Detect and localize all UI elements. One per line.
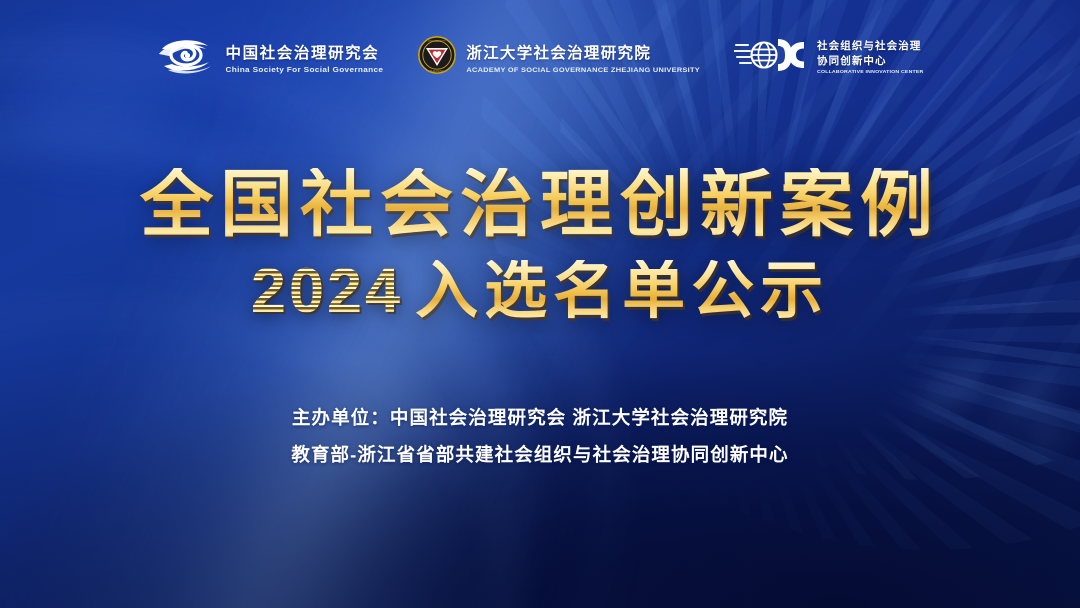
organizer-line-2: 教育部-浙江省省部共建社会组织与社会治理协同创新中心 — [0, 441, 1080, 467]
page-title: 全国社会治理创新案例 — [0, 168, 1080, 241]
title-block: 全国社会治理创新案例 2024 入选名单公示 — [0, 168, 1080, 323]
logo-bar: 中国社会治理研究会 China Society For Social Gover… — [0, 34, 1080, 81]
logo-china-society-text: 中国社会治理研究会 China Society For Social Gover… — [225, 41, 383, 74]
logo-collaborative-center: 社会组织与社会治理 协同创新中心 COLLABORATIVE INNOVATIO… — [734, 34, 924, 81]
logo-zhejiang-academy-text: 浙江大学社会治理研究院 ACADEMY OF SOCIAL GOVERNANCE… — [466, 41, 700, 74]
title-year: 2024 — [251, 260, 409, 323]
logo-collaborative-center-text: 社会组织与社会治理 协同创新中心 COLLABORATIVE INNOVATIO… — [817, 40, 924, 75]
logo-collaborative-center-cn-line2: 协同创新中心 — [817, 55, 924, 68]
logo-zhejiang-academy-cn: 浙江大学社会治理研究院 — [466, 41, 700, 63]
organizer-line-1: 主办单位：中国社会治理研究会 浙江大学社会治理研究院 — [0, 404, 1080, 430]
poster-canvas: 中国社会治理研究会 China Society For Social Gover… — [0, 0, 1080, 608]
logo-china-society-cn: 中国社会治理研究会 — [225, 41, 383, 63]
logo-collaborative-center-en: COLLABORATIVE INNOVATION CENTER — [817, 69, 924, 75]
logo-zhejiang-academy-en: ACADEMY OF SOCIAL GOVERNANCE ZHEJIANG UN… — [466, 65, 700, 73]
logo-collaborative-center-cn-line1: 社会组织与社会治理 — [817, 40, 924, 53]
zhejiang-university-crest-icon: UNIVERSITY ZHEJIANG — [417, 35, 457, 80]
poster-content: 中国社会治理研究会 China Society For Social Gover… — [0, 0, 1080, 608]
page-subtitle: 2024 入选名单公示 — [0, 260, 1080, 323]
svg-text:UNIVERSITY: UNIVERSITY — [428, 39, 446, 43]
logo-china-society: 中国社会治理研究会 China Society For Social Gover… — [156, 35, 383, 80]
organizer-block: 主办单位：中国社会治理研究会 浙江大学社会治理研究院 教育部-浙江省省部共建社会… — [0, 404, 1080, 467]
logo-china-society-en: China Society For Social Governance — [225, 65, 383, 73]
title-subtitle-text: 入选名单公示 — [415, 260, 829, 323]
logo-zhejiang-academy: UNIVERSITY ZHEJIANG 浙江大学社会治理研究院 ACADEMY … — [417, 35, 700, 80]
svg-text:ZHEJIANG: ZHEJIANG — [430, 69, 446, 73]
globe-cic-icon — [734, 34, 808, 81]
eye-swirl-icon — [156, 35, 216, 80]
